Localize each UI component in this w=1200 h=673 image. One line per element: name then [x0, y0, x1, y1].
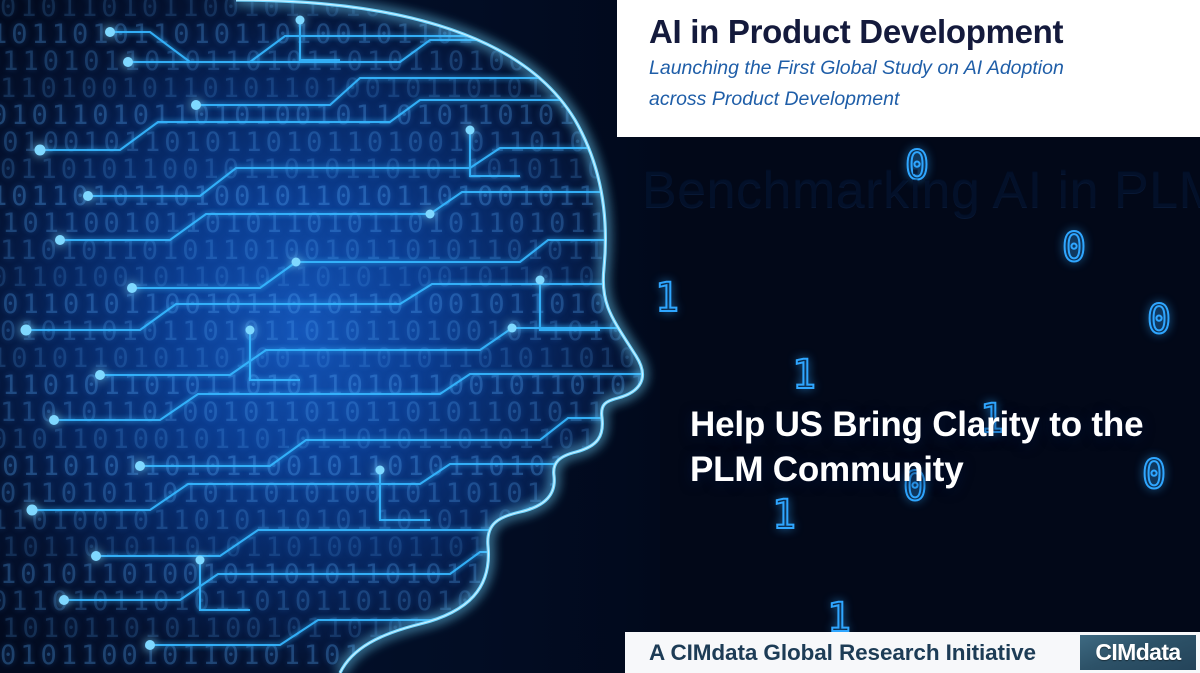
floating-bit: 0 — [1147, 300, 1171, 340]
subtitle-line-1: Launching the First Global Study on AI A… — [649, 56, 1180, 82]
subtitle-line-2: across Product Development — [649, 87, 1180, 113]
floating-bit: 1 — [792, 355, 816, 395]
footer-text: A CIMdata Global Research Initiative — [649, 640, 1036, 666]
cimdata-logo-text: CIMdata — [1095, 639, 1180, 666]
headline-line-1: Help US Bring Clarity to the — [690, 403, 1190, 448]
footer-bar: A CIMdata Global Research Initiative CIM… — [625, 632, 1200, 673]
floating-bit: 1 — [772, 495, 796, 535]
title-card: AI in Product Development Launching the … — [617, 0, 1200, 137]
circuit-head-artwork: 0101101011001011010110010110101100101101… — [0, 0, 660, 673]
cimdata-logo[interactable]: CIMdata — [1080, 635, 1196, 670]
headline-line-2: PLM Community — [690, 448, 1190, 493]
headline-block: Help US Bring Clarity to the PLM Communi… — [690, 403, 1190, 493]
circuit-traces — [0, 0, 660, 673]
slide-canvas: 0101101011001011010110010110101100101101… — [0, 0, 1200, 673]
floating-bit: 0 — [1062, 228, 1086, 268]
page-title: AI in Product Development — [649, 14, 1180, 51]
floating-bit: 0 — [905, 146, 929, 186]
floating-bit: 1 — [655, 278, 679, 318]
